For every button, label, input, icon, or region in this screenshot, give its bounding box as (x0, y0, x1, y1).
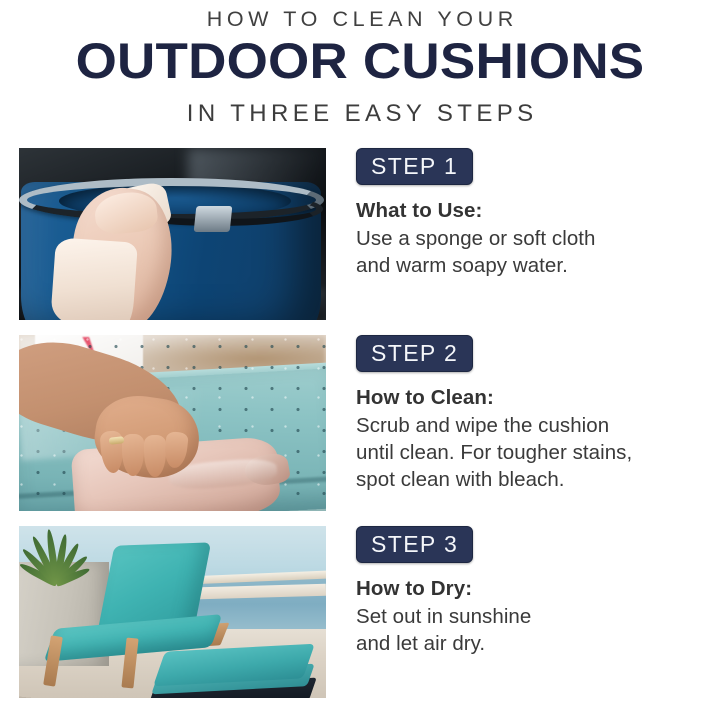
agave-plant (19, 526, 101, 584)
step-row-2: STEP 2 How to Clean: Scrub and wipe the … (0, 335, 720, 511)
infographic-header: HOW TO CLEAN YOUR OUTDOOR CUSHIONS IN TH… (0, 0, 720, 140)
step-1-copy: STEP 1 What to Use: Use a sponge or soft… (356, 148, 708, 279)
step-1-heading: What to Use: (356, 198, 708, 224)
page-title: OUTDOOR CUSHIONS (0, 33, 720, 89)
step-2-copy: STEP 2 How to Clean: Scrub and wipe the … (356, 335, 708, 493)
step-row-1: STEP 1 What to Use: Use a sponge or soft… (0, 148, 720, 320)
step-row-3: STEP 3 How to Dry: Set out in sunshine a… (0, 526, 720, 698)
header-kicker: HOW TO CLEAN YOUR (0, 7, 720, 32)
header-subkicker: IN THREE EASY STEPS (0, 100, 720, 128)
step-1-badge: STEP 1 (356, 148, 473, 185)
step-2-badge: STEP 2 (356, 335, 473, 372)
step-2-body: Scrub and wipe the cushion until clean. … (356, 412, 708, 493)
step-1-body: Use a sponge or soft cloth and warm soap… (356, 225, 708, 279)
step-3-photo (19, 526, 326, 698)
step-3-heading: How to Dry: (356, 576, 708, 602)
bucket-scene-illustration (19, 148, 326, 320)
wiping-cushion-scene-illustration (19, 335, 326, 511)
bucket-handle (194, 206, 233, 232)
step-2-photo (19, 335, 326, 511)
step-2-heading: How to Clean: (356, 385, 708, 411)
infographic-page: HOW TO CLEAN YOUR OUTDOOR CUSHIONS IN TH… (0, 0, 720, 720)
step-1-photo (19, 148, 326, 320)
step-3-badge: STEP 3 (356, 526, 473, 563)
step-3-copy: STEP 3 How to Dry: Set out in sunshine a… (356, 526, 708, 657)
step-3-body: Set out in sunshine and let air dry. (356, 603, 708, 657)
white-cloth (50, 237, 138, 320)
chaise-lounge-scene-illustration (19, 526, 326, 698)
